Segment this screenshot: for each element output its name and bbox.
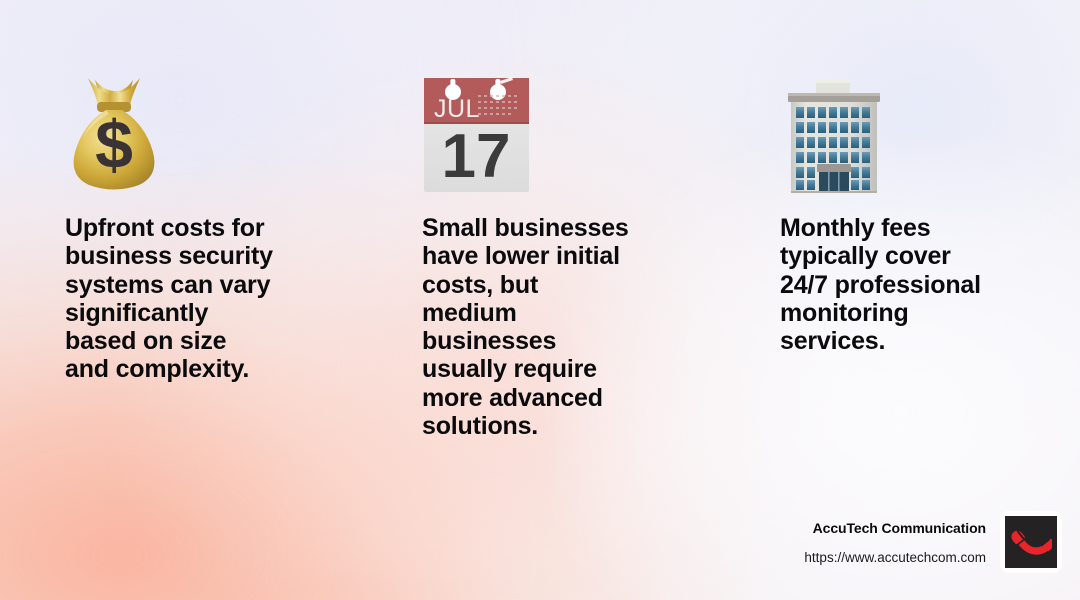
- calendar-icon-wrap: JUL: [422, 62, 672, 194]
- column-1-text: Upfront costs for business security syst…: [65, 214, 385, 384]
- brand-url[interactable]: https://www.accutechcom.com: [762, 549, 986, 566]
- brand-logo-tile[interactable]: [1000, 511, 1062, 573]
- money-bag-icon: $: [65, 72, 163, 194]
- telephone-handset-icon: [1010, 521, 1052, 563]
- calendar-month-label: JUL: [434, 95, 480, 123]
- calendar-day-number: 17: [442, 122, 511, 191]
- column-small-businesses: JUL: [422, 62, 672, 440]
- infographic-canvas: $ Upfront costs for business security sy…: [0, 0, 1080, 600]
- svg-text:$: $: [95, 107, 133, 183]
- column-2-text: Small businesses have lower initial cost…: [422, 214, 672, 440]
- footer-text-block: AccuTech Communication https://www.accut…: [762, 519, 1000, 566]
- money-bag-icon-wrap: $: [65, 62, 385, 194]
- brand-name: AccuTech Communication: [762, 519, 986, 537]
- office-building-icon: [780, 74, 888, 194]
- column-3-text: Monthly fees typically cover 24/7 profes…: [780, 214, 1040, 355]
- footer-branding: AccuTech Communication https://www.accut…: [762, 503, 1062, 581]
- column-upfront-costs: $ Upfront costs for business security sy…: [65, 62, 385, 384]
- office-building-icon-wrap: [780, 62, 1040, 194]
- column-monthly-fees: Monthly fees typically cover 24/7 profes…: [780, 62, 1040, 355]
- brand-logo-inner: [1005, 516, 1057, 568]
- calendar-icon: JUL: [422, 76, 531, 194]
